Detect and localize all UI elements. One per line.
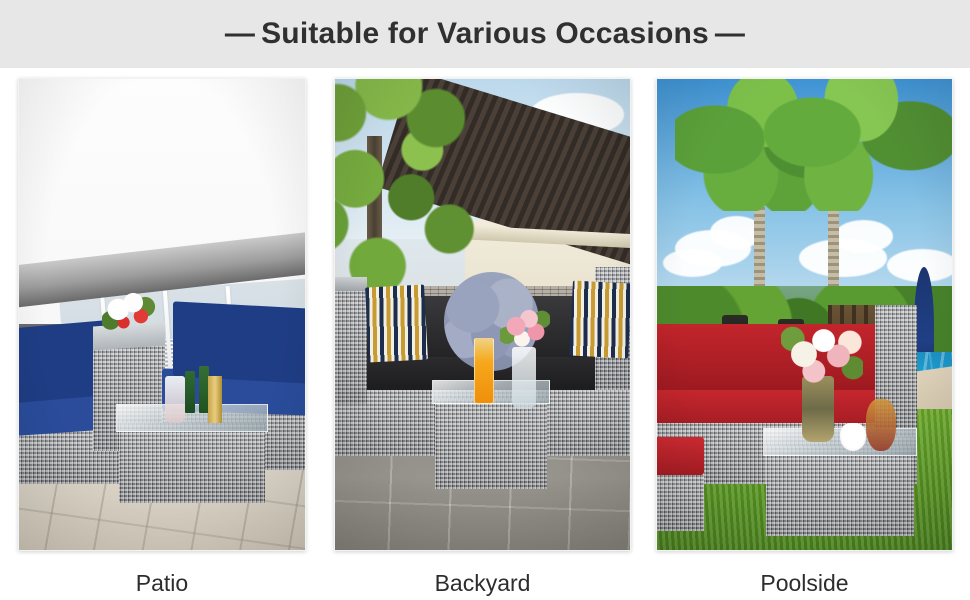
coffee-table-wicker-body — [435, 399, 547, 488]
striped-throw-pillow — [366, 285, 429, 363]
title-text: Suitable for Various Occasions — [261, 17, 709, 50]
gold-tumbler — [208, 376, 222, 423]
caption-backyard: Backyard — [334, 571, 631, 596]
title-dash-left: — — [219, 17, 261, 50]
coffee-table-wicker-body — [119, 423, 265, 503]
title-dash-right: — — [709, 17, 751, 50]
panel-patio[interactable]: Patio — [18, 78, 306, 596]
coffee-table-wicker-body — [766, 446, 914, 535]
glass-decanter — [165, 376, 185, 423]
orange-juice-glass — [474, 338, 495, 404]
palm-fronds — [763, 78, 952, 211]
striped-throw-pillow — [569, 280, 631, 358]
sofa-arm-left-top — [334, 277, 367, 291]
promo-banner: —Suitable for Various Occasions— — [0, 0, 970, 600]
panel-poolside[interactable]: Poolside — [656, 78, 953, 596]
photo-patio — [18, 78, 306, 551]
flower-bouquet — [102, 286, 156, 338]
panel-row: Patio — [0, 68, 970, 600]
cloud — [663, 249, 722, 277]
panel-backyard[interactable]: Backyard — [334, 78, 631, 596]
ottoman-cushion — [656, 437, 704, 475]
photo-poolside — [656, 78, 953, 551]
ottoman-wicker-base — [656, 470, 704, 531]
green-bottle — [185, 371, 195, 413]
sofa-arm-left — [334, 282, 367, 404]
amber-decanter — [866, 399, 896, 451]
glass-vase — [512, 347, 536, 408]
caption-poolside: Poolside — [656, 571, 953, 596]
page-title: —Suitable for Various Occasions— — [219, 19, 751, 49]
header-band: —Suitable for Various Occasions— — [0, 0, 970, 68]
photo-backyard — [334, 78, 631, 551]
flower-bouquet — [781, 310, 864, 395]
caption-patio: Patio — [18, 571, 306, 596]
